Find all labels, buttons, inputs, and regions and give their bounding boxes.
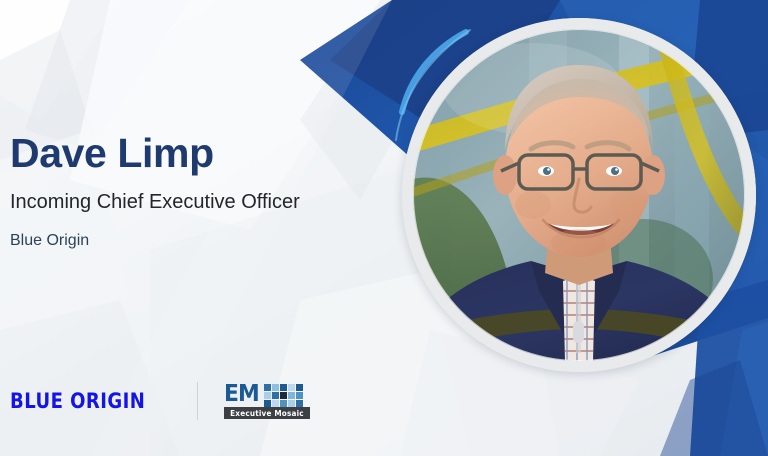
mosaic-tile-1: [272, 384, 279, 391]
mosaic-tile-9: [296, 392, 303, 399]
promo-banner: Dave Limp Incoming Chief Executive Offic…: [0, 0, 768, 456]
em-logo-top: EM: [224, 383, 310, 407]
mosaic-tile-8: [288, 392, 295, 399]
mosaic-tile-4: [296, 384, 303, 391]
mosaic-tile-12: [280, 400, 287, 407]
logo-divider: [197, 382, 198, 420]
mosaic-tile-3: [288, 384, 295, 391]
mosaic-tile-5: [264, 392, 271, 399]
blue-origin-logo: BLUE ORIGIN: [10, 389, 145, 413]
portrait-illustration: [413, 29, 745, 361]
mosaic-tile-10: [264, 400, 271, 407]
person-role: Incoming Chief Executive Officer: [10, 191, 370, 214]
mosaic-icon: [264, 384, 303, 407]
mosaic-tile-6: [272, 392, 279, 399]
mosaic-tile-13: [288, 400, 295, 407]
mosaic-tile-2: [280, 384, 287, 391]
mosaic-tile-11: [272, 400, 279, 407]
em-tagline: Executive Mosaic: [230, 409, 304, 418]
dave-limp-portrait: [402, 18, 756, 372]
portrait-image-clip: [413, 29, 745, 361]
mosaic-tile-14: [296, 400, 303, 407]
em-letters: EM: [224, 383, 259, 405]
executive-mosaic-logo: EM Executive Mosaic: [224, 383, 310, 419]
person-organization: Blue Origin: [10, 232, 370, 250]
page-title: Dave Limp: [10, 132, 370, 175]
mosaic-tile-0: [264, 384, 271, 391]
mosaic-tile-7: [280, 392, 287, 399]
logo-row: BLUE ORIGIN EM Executive Mosaic: [10, 382, 310, 420]
em-name-bar: Executive Mosaic: [224, 407, 310, 419]
headline-block: Dave Limp Incoming Chief Executive Offic…: [10, 132, 370, 250]
